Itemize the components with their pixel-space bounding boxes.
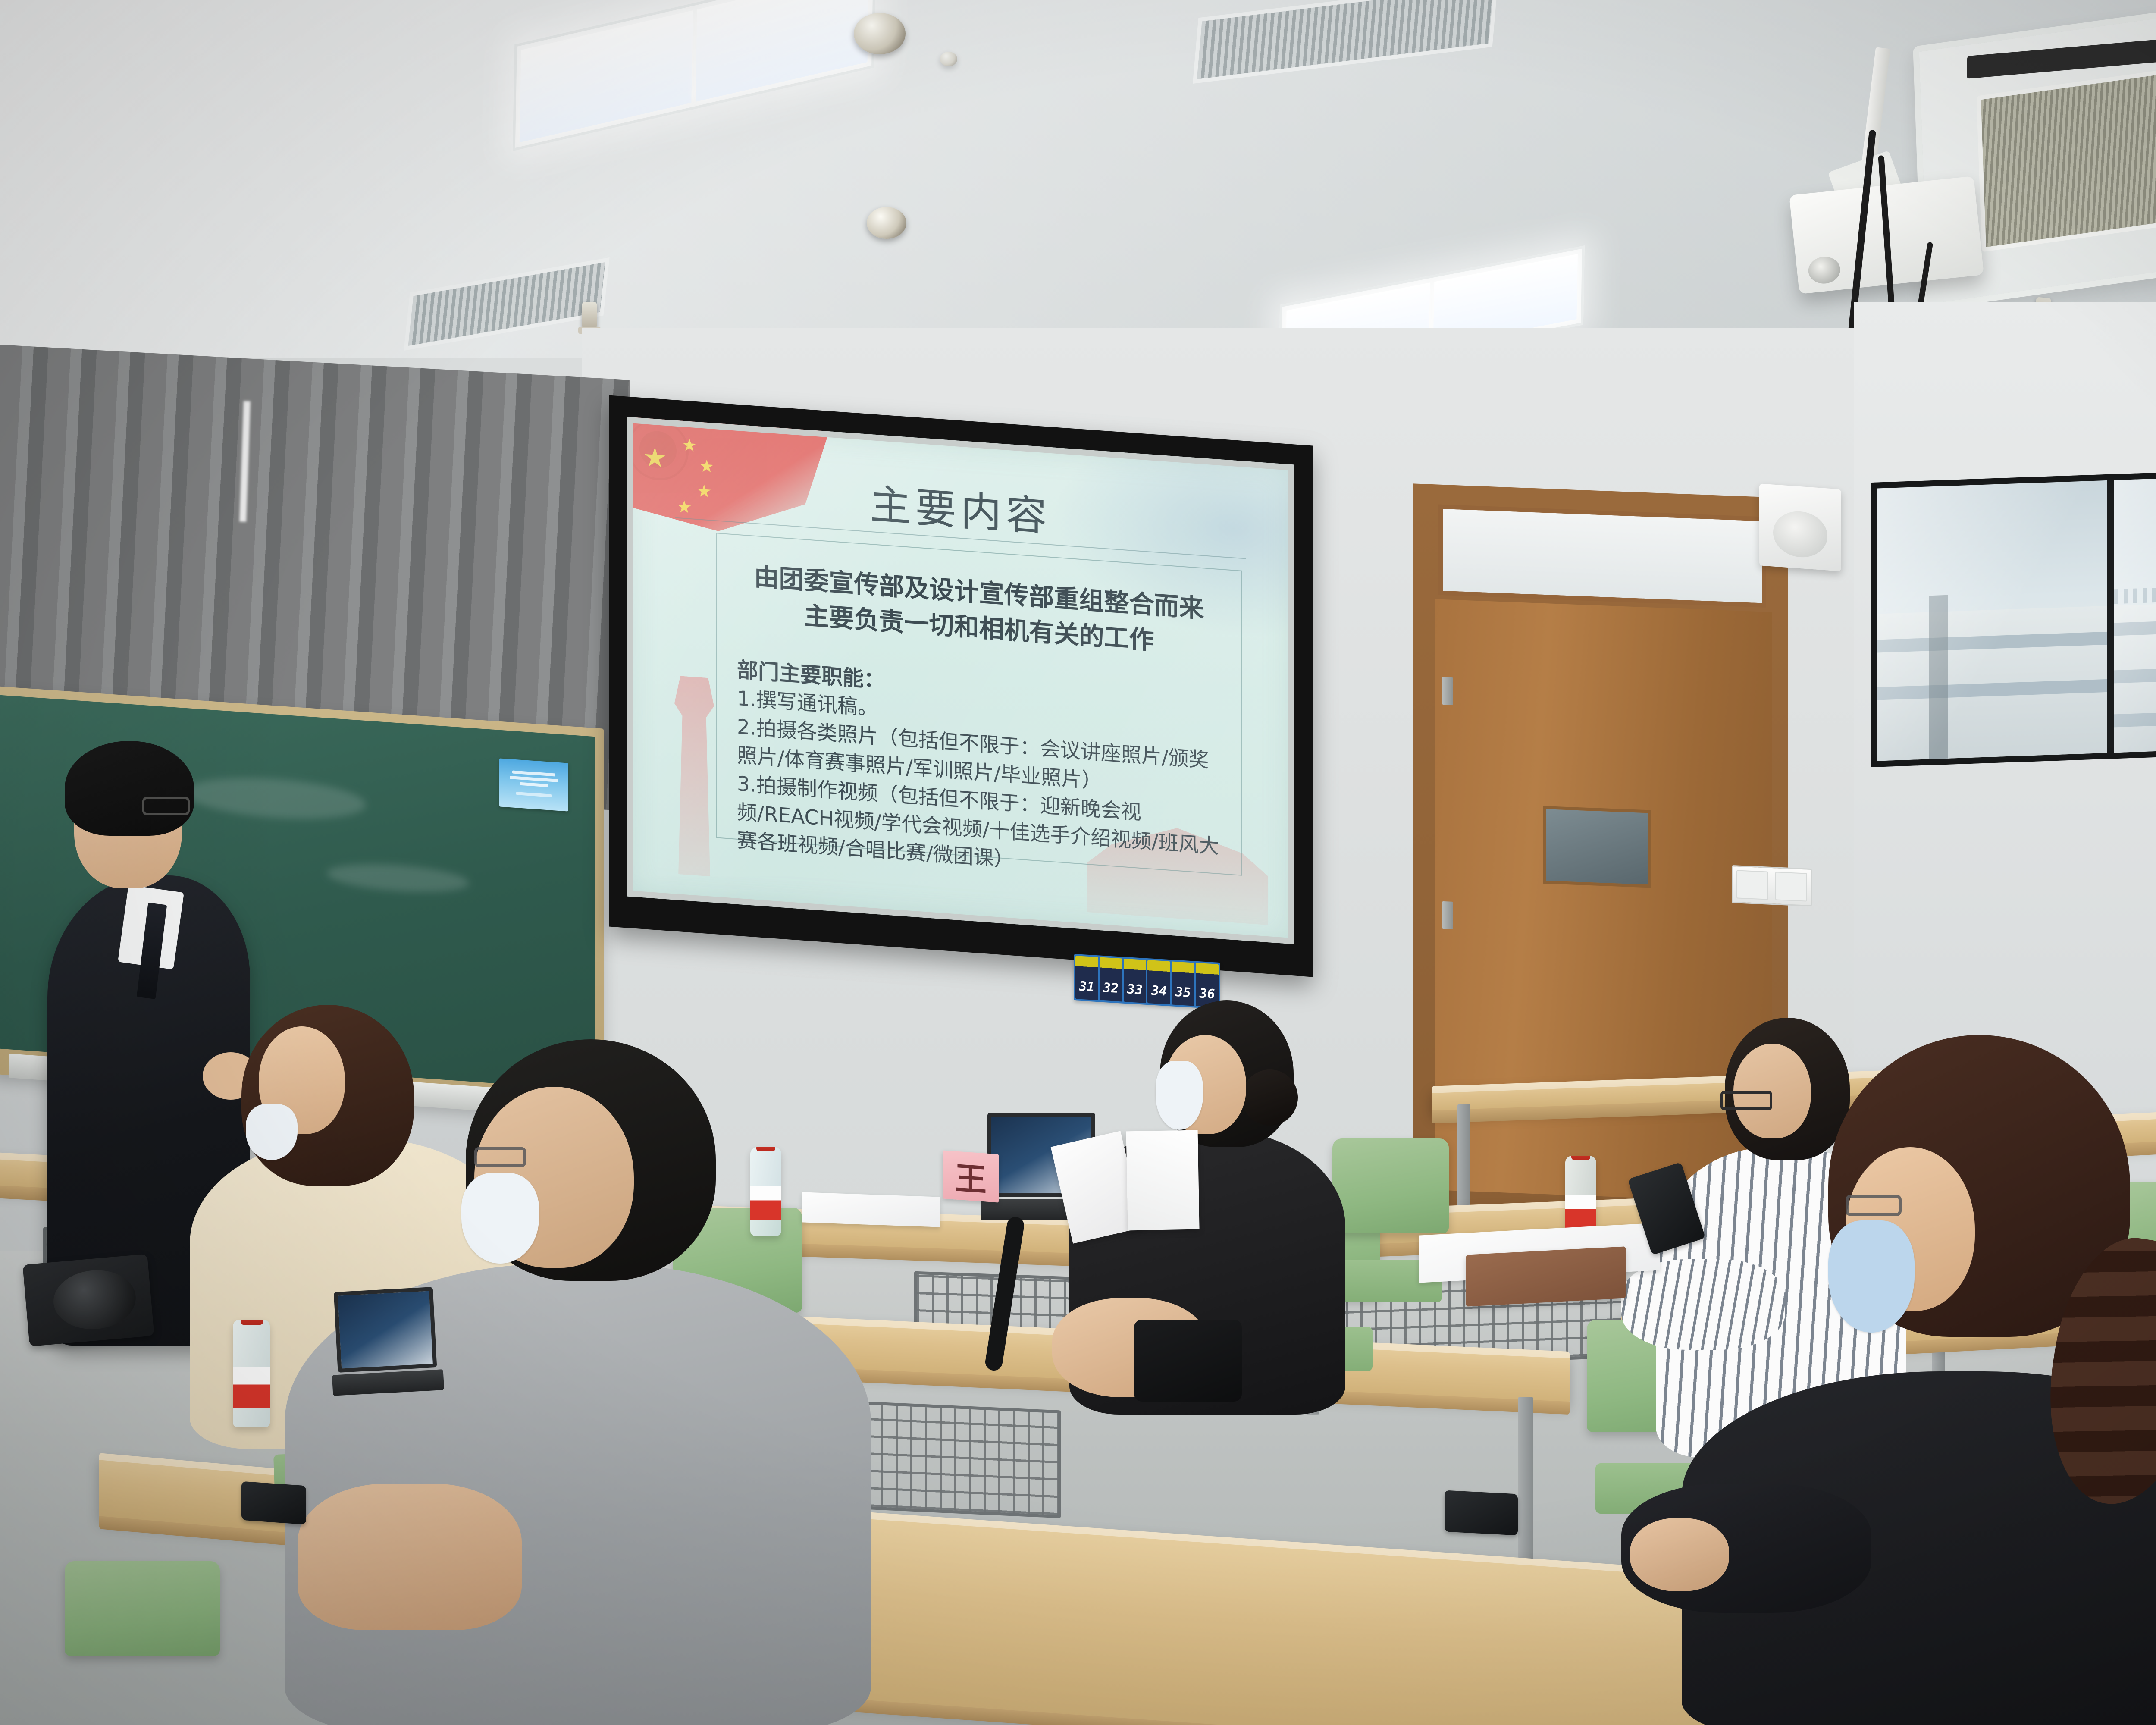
window-reflection [1877,480,2107,761]
window-pane [2114,472,2156,753]
bottle-label [233,1367,270,1408]
camera[interactable] [22,1254,154,1347]
smartphone[interactable] [1445,1490,1518,1536]
attendee-gray-polo-arm [298,1483,522,1630]
door-view-window [1543,806,1651,888]
paper-sheets[interactable] [802,1192,940,1227]
name-card: 王 [943,1150,999,1202]
presenter-hair [65,741,194,836]
speaker-cone-icon [1773,510,1827,559]
wall-speaker [1759,483,1841,571]
light-switch-panel[interactable] [1732,865,1812,906]
face-mask [246,1104,298,1160]
glasses-icon [1846,1195,1902,1216]
sprinkler-head-icon [582,302,597,329]
classroom-scene: ★ ★ ★ ★ ★ 主要内容 由团委宣传部及设计宣传部重组整合而来 主要负责一切… [0,0,2156,1725]
window-pane [1877,480,2107,761]
face-mask [1156,1061,1203,1130]
glasses-icon [474,1147,526,1167]
camera-lens-icon [51,1267,138,1333]
glasses-icon [142,797,190,815]
switch-toggle[interactable] [1736,870,1768,900]
pocket-slot[interactable]: 33 [1124,959,1147,1003]
smartphone[interactable] [241,1481,306,1524]
pocket-slot[interactable]: 31 [1075,956,1098,1000]
pocket-slot[interactable]: 32 [1100,957,1122,1001]
attendee-braid-hand [1630,1518,1729,1591]
face-mask [1828,1220,1915,1333]
window-wall [1871,458,2156,767]
smoke-detector-icon [867,207,906,239]
phone-storage-pockets[interactable]: 31 32 33 34 35 36 [1074,954,1220,1009]
notebook[interactable] [1466,1246,1626,1306]
bag [1134,1320,1242,1402]
laptop[interactable] [334,1287,438,1396]
switch-toggle[interactable] [1775,872,1807,901]
door-transom-window [1438,505,1766,608]
chair[interactable] [65,1561,220,1725]
pocket-slot[interactable]: 35 [1172,961,1194,1006]
ac-vent [1967,35,2156,79]
projection-screen: ★ ★ ★ ★ ★ 主要内容 由团委宣传部及设计宣传部重组整合而来 主要负责一切… [627,417,1294,944]
water-bottle[interactable] [750,1147,781,1236]
bottle-cap [241,1320,263,1325]
glasses-icon [1720,1091,1772,1110]
smoke-detector-icon [854,13,906,54]
water-bottle[interactable] [233,1320,270,1427]
screen-glare [627,417,1294,944]
chalkboard-notice-poster [499,758,568,811]
pocket-slot[interactable]: 34 [1147,960,1170,1004]
pocket-slot[interactable]: 36 [1196,963,1219,1007]
door-hinge [1442,901,1453,929]
open-book[interactable] [1056,1127,1203,1240]
book-page-right [1126,1130,1199,1231]
door-hinge [1442,677,1453,705]
window-reflection [2114,472,2156,753]
attendee-striped-arm [1621,1259,1785,1350]
projector-lens-icon [1807,255,1842,285]
laptop-screen [334,1287,437,1373]
face-mask [461,1173,539,1264]
smoke-detector-icon [940,52,957,66]
hair-bun [1242,1069,1298,1126]
